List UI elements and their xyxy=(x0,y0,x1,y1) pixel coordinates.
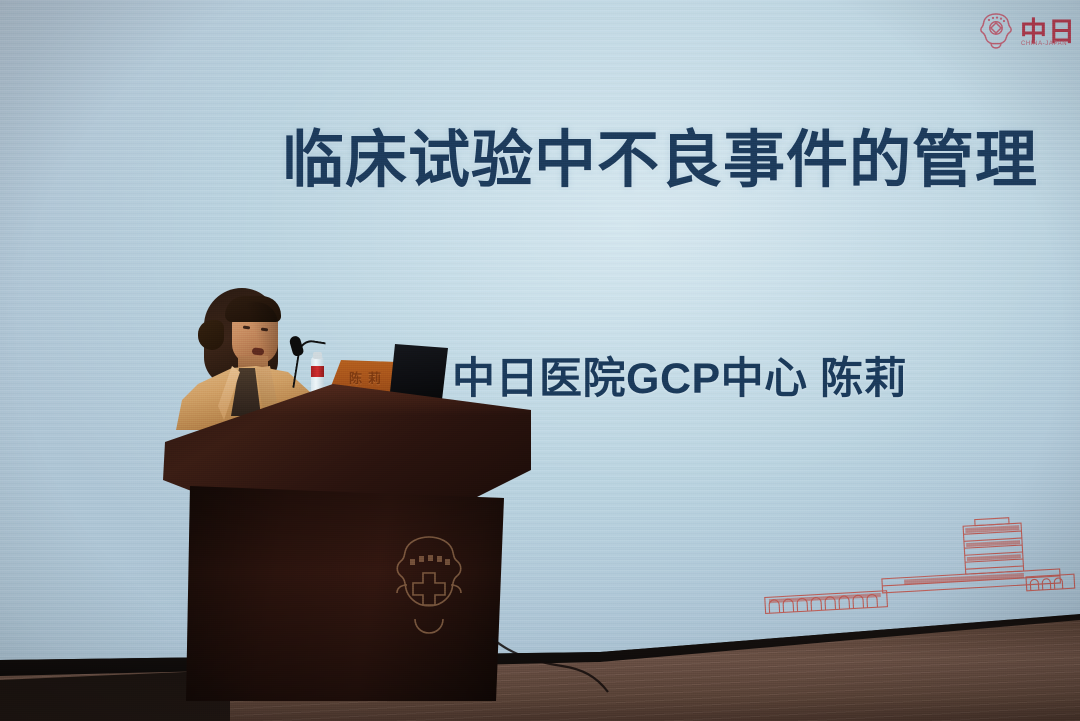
speaker-eye-right xyxy=(261,328,268,332)
projection-screen xyxy=(0,0,1080,660)
water-bottle-label xyxy=(311,366,324,377)
laptop-icon xyxy=(390,344,448,400)
water-bottle-cap xyxy=(313,352,322,359)
logo-sub-wordmark: CHINA-JAPAN xyxy=(1021,41,1067,47)
speaker-mouth xyxy=(252,347,265,355)
presentation-photo: 临床试验中不良事件的管理 中日医院GCP中心 陈莉 中日 CHINA-JAPAN xyxy=(0,0,1080,721)
speaker-hair-bun xyxy=(198,320,224,350)
speaker-eye-left xyxy=(243,326,250,330)
slide-corner-logo: 中日 CHINA-JAPAN xyxy=(968,8,1080,56)
nameplate-text: 陈莉 xyxy=(337,368,399,387)
podium-body xyxy=(186,486,504,701)
slide-title: 临床试验中不良事件的管理 xyxy=(282,128,1022,193)
slide-subtitle: 中日医院GCP中心 陈莉 xyxy=(452,344,907,406)
hospital-seal-icon xyxy=(978,12,1014,50)
speaker-hair-fringe xyxy=(225,296,281,322)
